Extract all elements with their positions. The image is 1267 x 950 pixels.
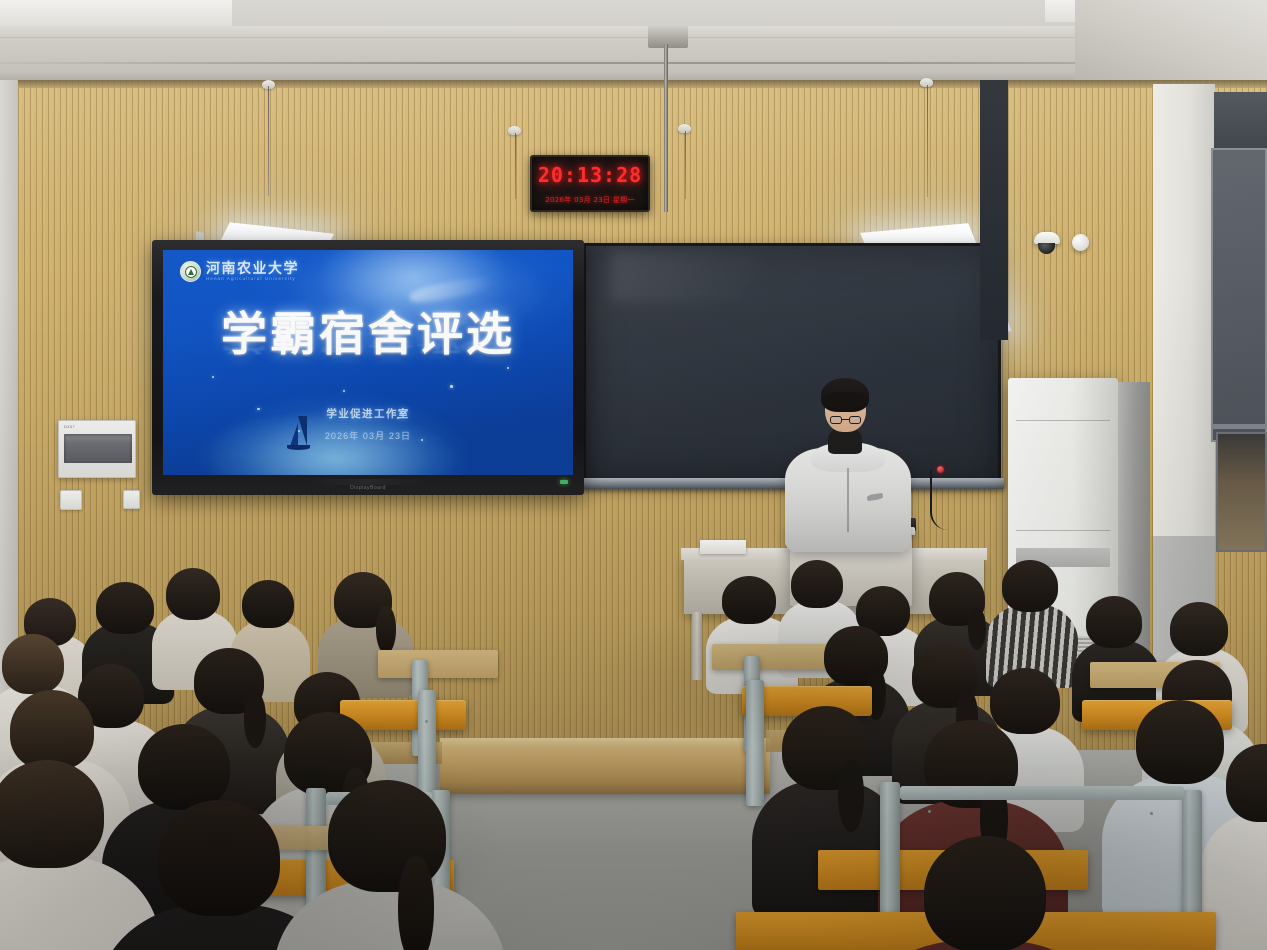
slide-date: 2026年 03月 23日 <box>163 429 573 442</box>
led-wall-clock: 20:13:28 2026年 03月 23日 星期一 <box>530 155 650 212</box>
blackboard-sheen <box>611 251 825 302</box>
desk-leg-left <box>692 612 702 680</box>
classroom-scene: 20:13:28 2026年 03月 23日 星期一 <box>0 0 1267 950</box>
clock-support-rod <box>664 44 668 212</box>
microphone-head-icon <box>937 466 944 473</box>
lamp-cable-1 <box>268 86 269 196</box>
presentation-screen[interactable]: 河南农业大学 Henan Agricultural University 学霸宿… <box>163 250 573 475</box>
smart-display-panel[interactable]: 河南农业大学 Henan Agricultural University 学霸宿… <box>152 240 584 495</box>
clock-ceiling-mount <box>648 26 688 48</box>
desk-surface <box>378 650 498 678</box>
screen-particle <box>212 376 214 378</box>
light-switch-left[interactable] <box>60 490 82 510</box>
clock-date-display: 2026年 03月 23日 星期一 <box>532 195 648 205</box>
screen-particle <box>507 367 509 369</box>
microphone-gooseneck <box>930 470 948 530</box>
university-emblem-icon <box>180 261 201 282</box>
desk-surface <box>712 644 842 670</box>
electrical-distribution-panel[interactable]: DZ47 <box>58 420 136 478</box>
screen-particle <box>343 390 345 392</box>
window-lower-pane <box>1216 432 1267 552</box>
breaker-window <box>64 434 132 463</box>
ceiling-recess-left <box>0 0 232 26</box>
lamp-cable-2 <box>515 133 516 199</box>
lamp-cable-4 <box>927 85 928 197</box>
university-name-en: Henan Agricultural University <box>206 277 299 282</box>
wall-top-trim <box>0 80 1267 88</box>
paper-stack <box>700 540 746 554</box>
presenter-hair-fringe <box>822 392 868 409</box>
step-riser <box>440 744 770 794</box>
eyeglasses-icon <box>830 416 861 424</box>
window-glass <box>1213 150 1265 440</box>
smoke-detector-icon <box>1072 234 1089 251</box>
screen-particle <box>450 385 453 388</box>
seat-frame-post <box>746 680 764 806</box>
ceiling-right-slope <box>1075 0 1267 80</box>
blackboard <box>583 243 1001 483</box>
clock-time-display: 20:13:28 <box>532 163 648 187</box>
university-logo: 河南农业大学 Henan Agricultural University <box>180 261 299 282</box>
step-top <box>440 738 770 747</box>
hoodie-zipper <box>847 468 849 532</box>
window-mullion <box>1211 424 1267 429</box>
far-door <box>980 80 1008 340</box>
window-frame <box>1211 148 1267 442</box>
seat-frame-rail <box>900 786 1184 800</box>
screen-power-led <box>560 480 568 484</box>
light-switch-right[interactable] <box>123 490 140 509</box>
lamp-cable-3 <box>685 131 686 199</box>
university-name-cn: 河南农业大学 <box>206 261 299 275</box>
screen-brand-label: DisplayBoard <box>152 485 584 491</box>
window-header <box>1214 92 1267 148</box>
slide-title: 学霸宿舍评选 <box>163 298 573 364</box>
slide-subtitle: 学业促进工作室 <box>163 406 573 421</box>
right-pillar <box>1153 84 1215 536</box>
